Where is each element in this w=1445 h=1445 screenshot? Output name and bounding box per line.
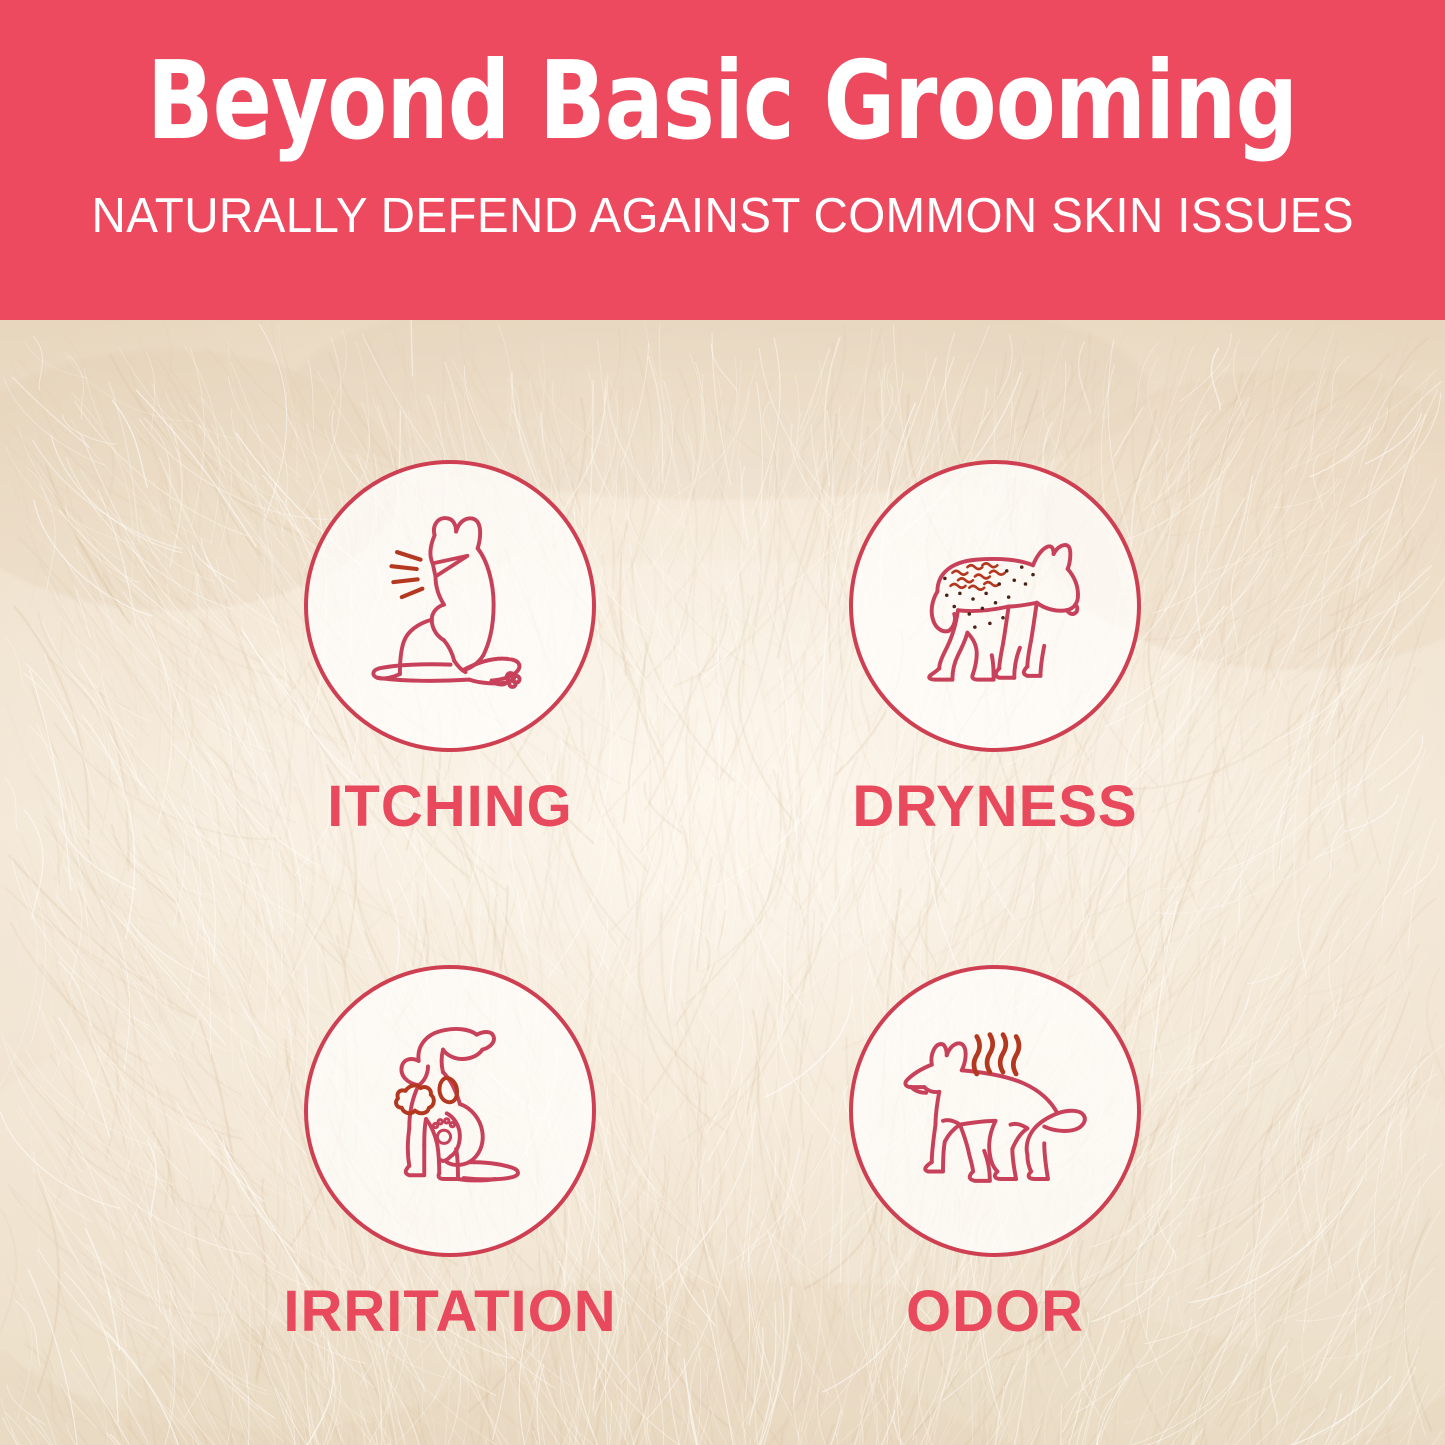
icon-disc-dryness	[849, 460, 1141, 752]
skin-issue-grid: ITCHING	[0, 320, 1445, 1445]
skin-issue-item-irritation: IRRITATION	[230, 965, 670, 1341]
skin-issue-label-irritation: IRRITATION	[230, 1283, 670, 1341]
promo-poster: Beyond Basic Grooming NATURALLY DEFEND A…	[0, 0, 1445, 1445]
skin-issue-item-itching: ITCHING	[230, 460, 670, 836]
skin-issue-item-odor: ODOR	[775, 965, 1215, 1341]
page-subtitle: NATURALLY DEFEND AGAINST COMMON SKIN ISS…	[91, 192, 1353, 241]
icon-disc-odor-icon	[849, 965, 1141, 1257]
header-banner: Beyond Basic Grooming NATURALLY DEFEND A…	[0, 0, 1445, 320]
skin-issue-label-odor: ODOR	[775, 1283, 1215, 1341]
dog-irritated-patch-icon	[338, 999, 563, 1224]
icon-disc-itching	[304, 460, 596, 752]
skin-issue-item-dryness: DRYNESS	[775, 460, 1215, 836]
dog-odor-waves-icon	[883, 999, 1108, 1224]
dog-flaky-skin-icon	[883, 494, 1108, 719]
skin-issue-label-dryness: DRYNESS	[775, 778, 1215, 836]
page-title: Beyond Basic Grooming	[147, 48, 1297, 156]
dog-scratching-icon	[338, 494, 563, 719]
icon-disc-irritation	[304, 965, 596, 1257]
skin-issue-label-itching: ITCHING	[230, 778, 670, 836]
